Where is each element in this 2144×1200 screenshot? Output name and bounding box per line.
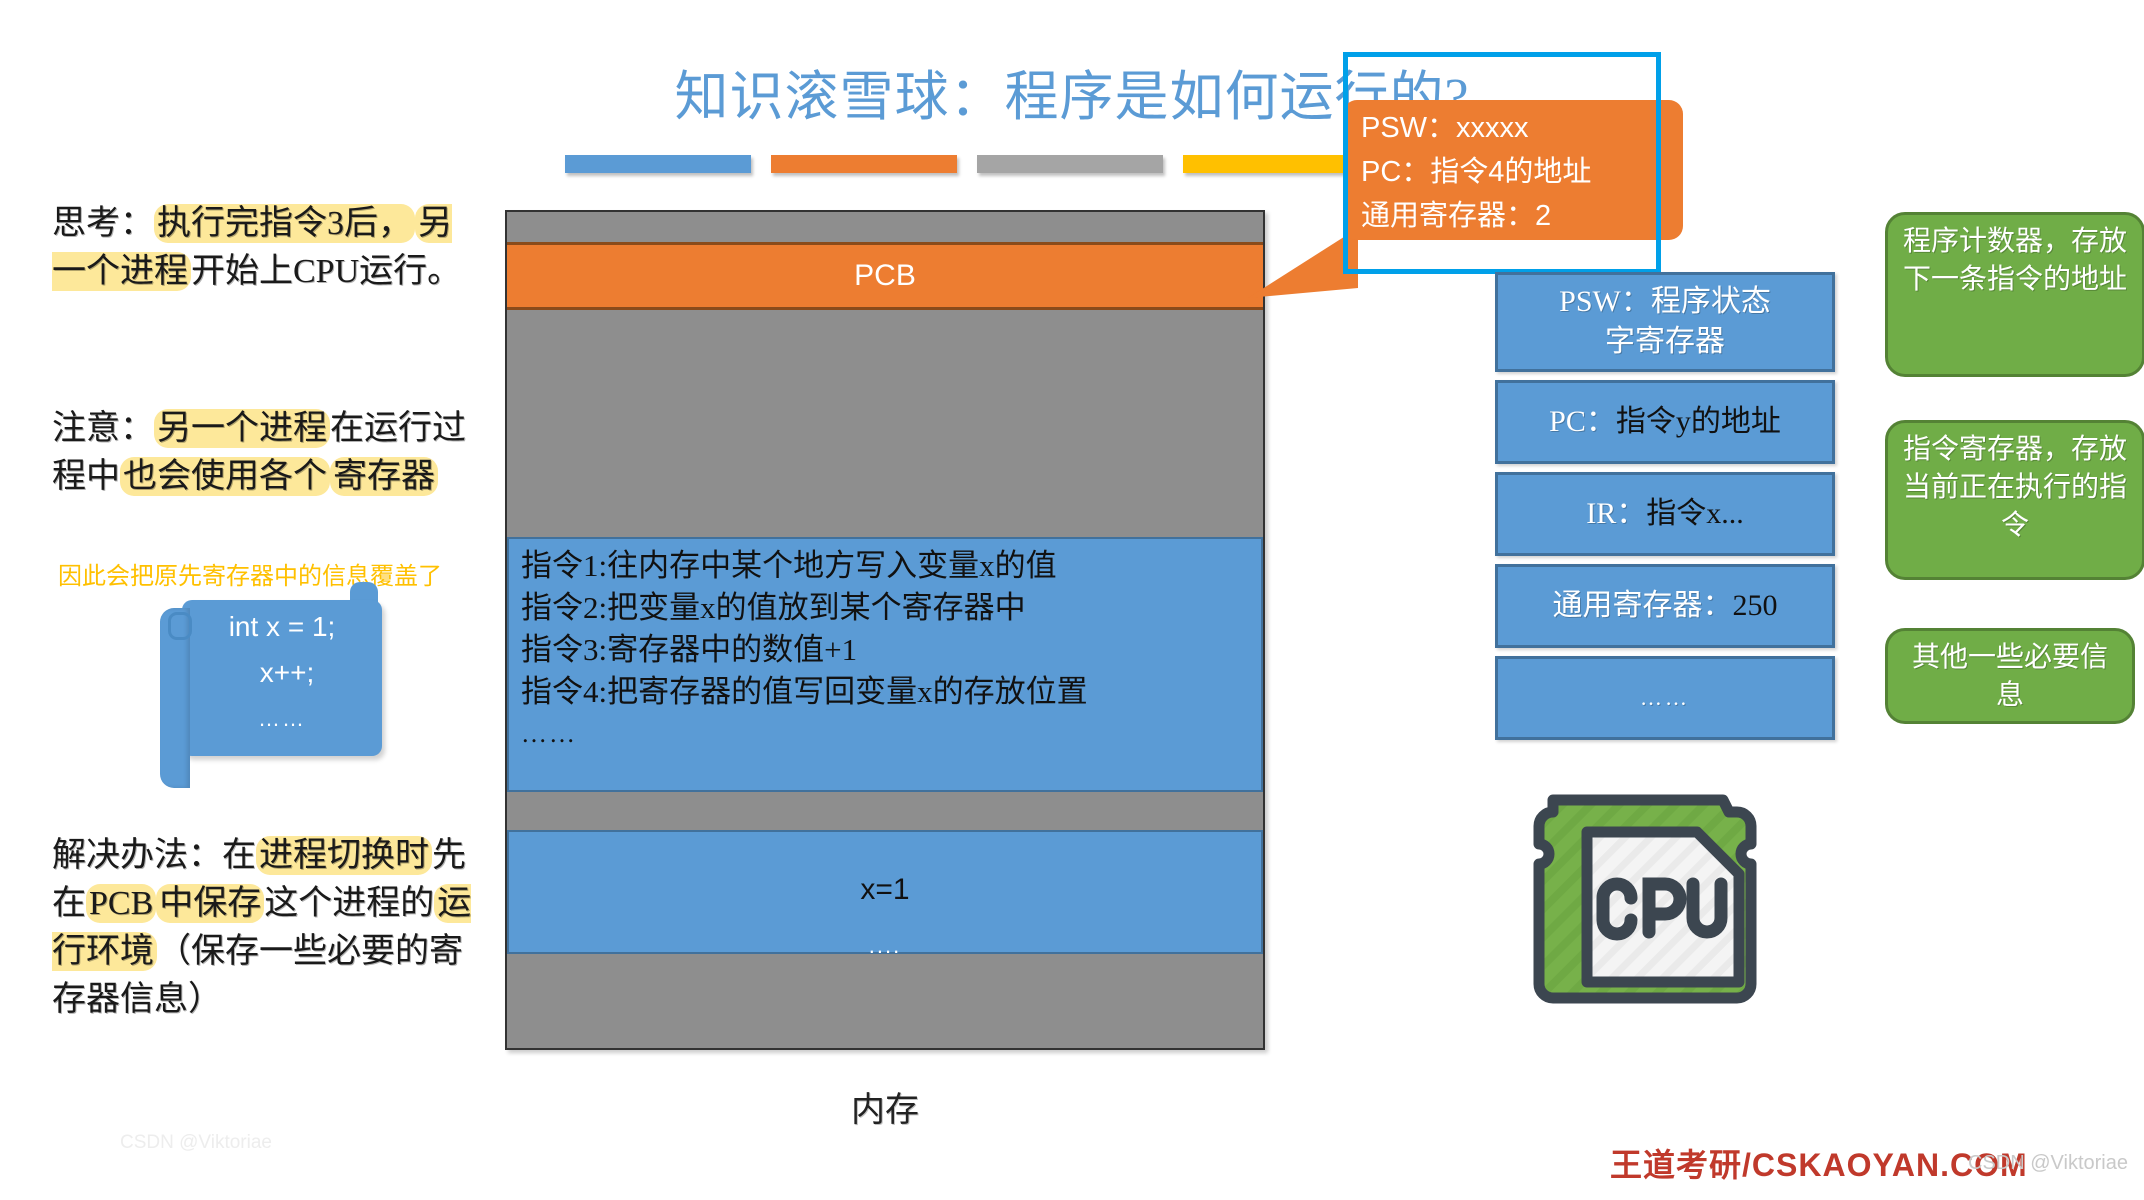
- instruction-line-more: ……: [521, 713, 1261, 755]
- cpu-registers-list: PSW：程序状态 字寄存器 PC：指令y的地址 IR：指令x... 通用寄存器：…: [1495, 272, 1835, 748]
- code-scroll-body: int x = 1; x++; ……: [182, 600, 382, 756]
- title-rule-seg-4: [1183, 155, 1369, 173]
- note-hl-1: 另一个进程: [154, 409, 330, 448]
- register-ir-label: IR：: [1586, 494, 1646, 534]
- memory-band-top-gray: [507, 212, 1263, 242]
- memory-band-bottom-gray: [507, 954, 1263, 1048]
- think-prefix: 思考：: [52, 205, 154, 242]
- memory-band-pcb: PCB: [507, 242, 1263, 310]
- footer-brand: 王道考研/CSKAOYAN.COM: [1610, 1140, 2028, 1186]
- green-callout-ir: 指令寄存器，存放当前正在执行的指令: [1885, 420, 2144, 580]
- instruction-line-1: 指令1:往内存中某个地方写入变量x的值: [521, 545, 1261, 587]
- memory-band-gray-3: [507, 792, 1263, 830]
- solve-hl-1: 进程切换时: [256, 836, 432, 875]
- memory-band-instructions: 指令1:往内存中某个地方写入变量x的值 指令2:把变量x的值放到某个寄存器中 指…: [507, 537, 1263, 792]
- memory-caption: 内存: [505, 1082, 1265, 1131]
- paragraph-think: 思考：执行完指令3后，另一个进程开始上CPU运行。: [52, 200, 472, 296]
- footer-brand-cn: 王道考研: [1610, 1147, 1742, 1183]
- register-pc: PC：指令y的地址: [1495, 380, 1835, 464]
- green-callout-pc: 程序计数器，存放下一条指令的地址: [1885, 212, 2144, 377]
- register-gp-label: 通用寄存器：: [1553, 586, 1733, 626]
- solve-text-5: 这个进程的: [264, 885, 434, 922]
- register-psw: PSW：程序状态 字寄存器: [1495, 272, 1835, 372]
- note-hl-3: 也会使用各个: [120, 457, 330, 496]
- note-prefix: 注意：: [52, 410, 154, 447]
- code-line-1: int x = 1;: [182, 604, 382, 650]
- green-callout-etc: 其他一些必要信息: [1885, 628, 2135, 724]
- cpu-chip-icon: [1525, 780, 1781, 1036]
- note-hl-4: 寄存器: [330, 457, 438, 496]
- register-psw-label-2: 字寄存器: [1559, 322, 1771, 362]
- orange-callout-tail-icon: [1248, 228, 1358, 298]
- scroll-roll-left-icon: [160, 608, 190, 788]
- page-title: 知识滚雪球：程序是如何运行的?: [0, 52, 2144, 131]
- register-pc-label: PC：: [1549, 402, 1616, 442]
- watermark-secondary: CSDN @Viktoriae: [120, 1132, 272, 1154]
- register-gp-value: 250: [1733, 586, 1778, 626]
- watermark: CSDN @Viktoriae: [1968, 1152, 2128, 1175]
- title-rule-seg-1: [565, 155, 751, 173]
- register-pc-value: 指令y的地址: [1616, 402, 1781, 442]
- title-rule-seg-2: [771, 155, 957, 173]
- memory-band-data: x=1 ....: [507, 830, 1263, 954]
- title-rule-seg-3: [977, 155, 1163, 173]
- solve-hl-3: PCB: [86, 884, 156, 923]
- paragraph-note: 注意：另一个进程在运行过程中也会使用各个寄存器: [52, 405, 472, 501]
- code-scroll: int x = 1; x++; ……: [160, 600, 385, 780]
- data-value: x=1: [509, 862, 1261, 918]
- code-line-3: ……: [182, 696, 382, 742]
- pcb-label: PCB: [854, 259, 916, 293]
- instruction-line-3: 指令3:寄存器中的数值+1: [521, 629, 1261, 671]
- think-text-3: 开始上CPU: [191, 253, 359, 290]
- register-ir: IR：指令x...: [1495, 472, 1835, 556]
- register-psw-label: PSW：程序状态: [1559, 282, 1771, 322]
- think-text-4: 运行。: [359, 253, 461, 290]
- register-etc: ……: [1495, 656, 1835, 740]
- instruction-line-4: 指令4:把寄存器的值写回变量x的存放位置: [521, 671, 1261, 713]
- memory-band-gray-2: [507, 310, 1263, 537]
- register-general-purpose: 通用寄存器：250: [1495, 564, 1835, 648]
- solve-hl-4: 中保存: [156, 884, 264, 923]
- paragraph-solution: 解决办法：在进程切换时先在PCB中保存这个进程的运行环境（保存一些必要的寄存器信…: [52, 832, 482, 1024]
- register-ir-value: 指令x...: [1646, 494, 1744, 534]
- memory-diagram: PCB 指令1:往内存中某个地方写入变量x的值 指令2:把变量x的值放到某个寄存…: [505, 210, 1265, 1050]
- solve-prefix: 解决办法：在: [52, 837, 256, 874]
- blue-highlight-frame: [1343, 52, 1661, 274]
- think-hl-1: 执行完指令3后，: [154, 204, 415, 243]
- instruction-line-2: 指令2:把变量x的值放到某个寄存器中: [521, 587, 1261, 629]
- register-etc-label: ……: [1640, 678, 1690, 718]
- code-line-2: x++;: [182, 650, 382, 696]
